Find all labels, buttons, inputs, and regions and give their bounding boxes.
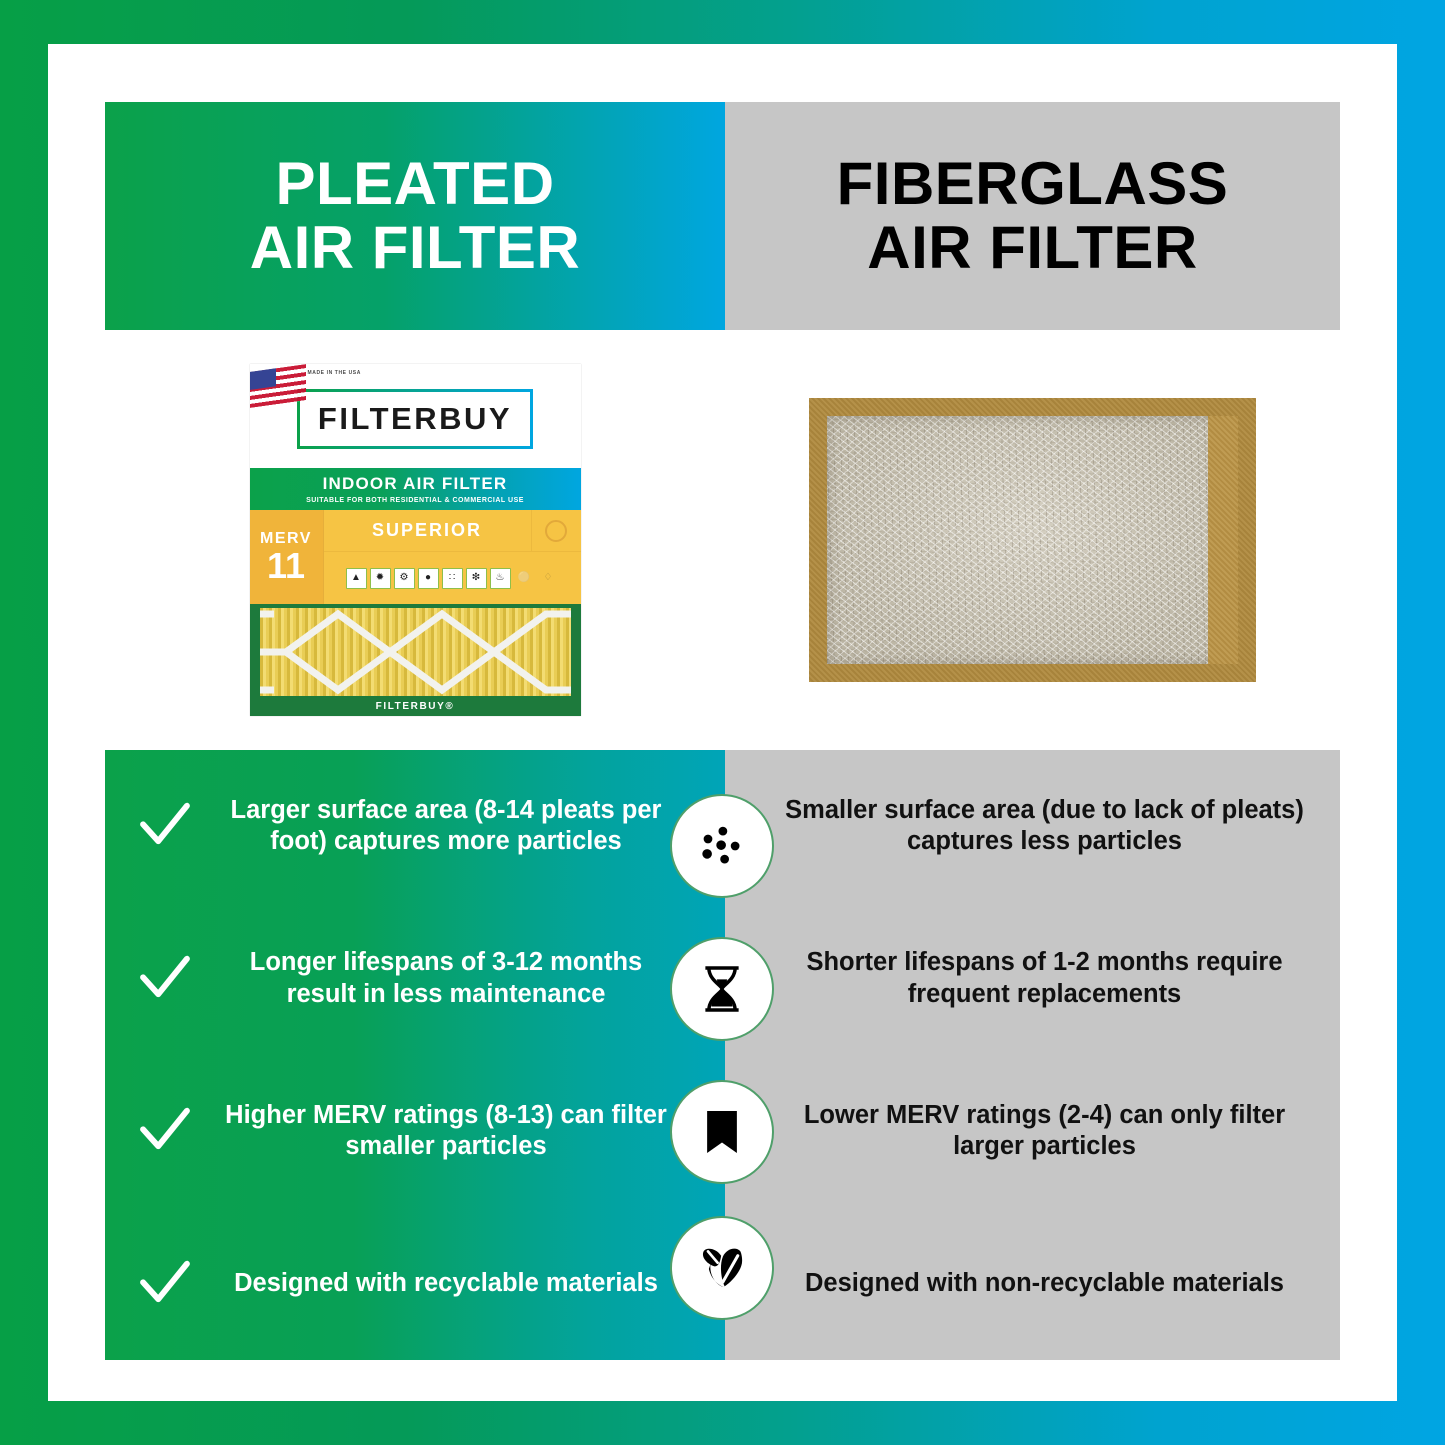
comparison-row-text-left: Larger surface area (8-14 pleats per foo… [225,795,725,858]
merv-value: 11 [267,548,305,584]
comparison-row: Longer lifespans of 3-12 months result i… [105,903,725,1056]
tier-row: SUPERIOR [324,510,581,552]
product-images-row: MADE IN THE USA FILTERBUY INDOOR AIR FIL… [105,330,1340,750]
box-top-section: MADE IN THE USA FILTERBUY [250,364,581,468]
checkmark-icon [105,1104,225,1158]
smoke-icon: ♨ [490,568,511,589]
comparison-row-text-right: Lower MERV ratings (2-4) can only filter… [725,1100,1340,1163]
particles-icon: ∷ [442,568,463,589]
checkmark-icon [105,1257,225,1311]
mold-icon: ⚙ [394,568,415,589]
made-in-usa-label: MADE IN THE USA [308,370,361,378]
white-card: PLEATED AIR FILTER FIBERGLASS AIR FILTER… [48,44,1397,1401]
comparison-row: Shorter lifespans of 1-2 months require … [725,903,1340,1056]
comparison-row-text-left: Higher MERV ratings (8-13) can filter sm… [225,1100,725,1163]
header-fiberglass: FIBERGLASS AIR FILTER [725,102,1340,330]
bookmark-icon [670,1080,774,1184]
header-pleated-line1: PLEATED [275,152,554,216]
diamond-support-grid [260,608,571,696]
tier-label: SUPERIOR [324,520,531,541]
comparison-row-text-left: Designed with recyclable materials [225,1268,725,1300]
particles-icon [670,794,774,898]
pollen-icon: ✹ [370,568,391,589]
band-subtitle: SUITABLE FOR BOTH RESIDENTIAL & COMMERCI… [306,497,524,504]
pleated-filter-photo: FILTERBUY® [250,604,581,716]
hourglass-icon [670,937,774,1041]
box-gradient-band: INDOOR AIR FILTER SUITABLE FOR BOTH RESI… [250,468,581,510]
fiberglass-frame-corner [1208,416,1238,664]
comparison-row: Lower MERV ratings (2-4) can only filter… [725,1055,1340,1208]
filterbuy-box-image: MADE IN THE USA FILTERBUY INDOOR AIR FIL… [250,364,581,716]
ul-certification-seal-icon [531,510,581,551]
box-footer-brand: FILTERBUY® [250,696,581,716]
box-gold-section: MERV 11 SUPERIOR ▲ ✹ ⚙ [250,510,581,604]
infographic-root: PLEATED AIR FILTER FIBERGLASS AIR FILTER… [0,0,1445,1445]
fiberglass-media [827,416,1234,664]
header-pleated-line2: AIR FILTER [250,216,581,280]
comparison-row-text-right: Shorter lifespans of 1-2 months require … [725,947,1340,1010]
virus-icon: ⚪ [514,568,535,589]
header-fiberglass-line1: FIBERGLASS [837,152,1229,216]
comparison-row-text-left: Longer lifespans of 3-12 months result i… [225,947,725,1010]
header-pleated: PLEATED AIR FILTER [105,102,725,330]
comparison-row: Larger surface area (8-14 pleats per foo… [105,750,725,903]
odor-icon: ♢ [538,568,559,589]
comparison-row: Higher MERV ratings (8-13) can filter sm… [105,1055,725,1208]
comparison-row: Designed with non-recyclable materials [725,1208,1340,1361]
header-fiberglass-line2: AIR FILTER [867,216,1198,280]
dust-icon: ▲ [346,568,367,589]
checkmark-icon [105,799,225,853]
bacteria-icon: ● [418,568,439,589]
fiberglass-product-cell [725,330,1340,750]
leaf-eco-icon [670,1216,774,1320]
header-band: PLEATED AIR FILTER FIBERGLASS AIR FILTER [105,102,1340,330]
pleated-product-cell: MADE IN THE USA FILTERBUY INDOOR AIR FIL… [105,330,725,750]
gold-right-section: SUPERIOR ▲ ✹ ⚙ ● ∷ ❇ ♨ ⚪ [324,510,581,604]
brand-logo-frame: FILTERBUY [297,389,533,449]
brand-name: FILTERBUY [318,401,512,436]
comparison-column-pleated: Larger surface area (8-14 pleats per foo… [105,750,725,1360]
pet-dander-icon: ❇ [466,568,487,589]
merv-badge: MERV 11 [250,510,324,604]
checkmark-icon [105,952,225,1006]
capability-icon-strip: ▲ ✹ ⚙ ● ∷ ❇ ♨ ⚪ ♢ [324,552,581,604]
comparison-row: Smaller surface area (due to lack of ple… [725,750,1340,903]
comparison-row-text-right: Smaller surface area (due to lack of ple… [725,795,1340,858]
fiberglass-filter-image [809,398,1256,682]
band-title: INDOOR AIR FILTER [323,474,508,494]
comparison-row-text-right: Designed with non-recyclable materials [725,1268,1340,1300]
comparison-row: Designed with recyclable materials [105,1208,725,1361]
comparison-column-fiberglass: Smaller surface area (due to lack of ple… [725,750,1340,1360]
